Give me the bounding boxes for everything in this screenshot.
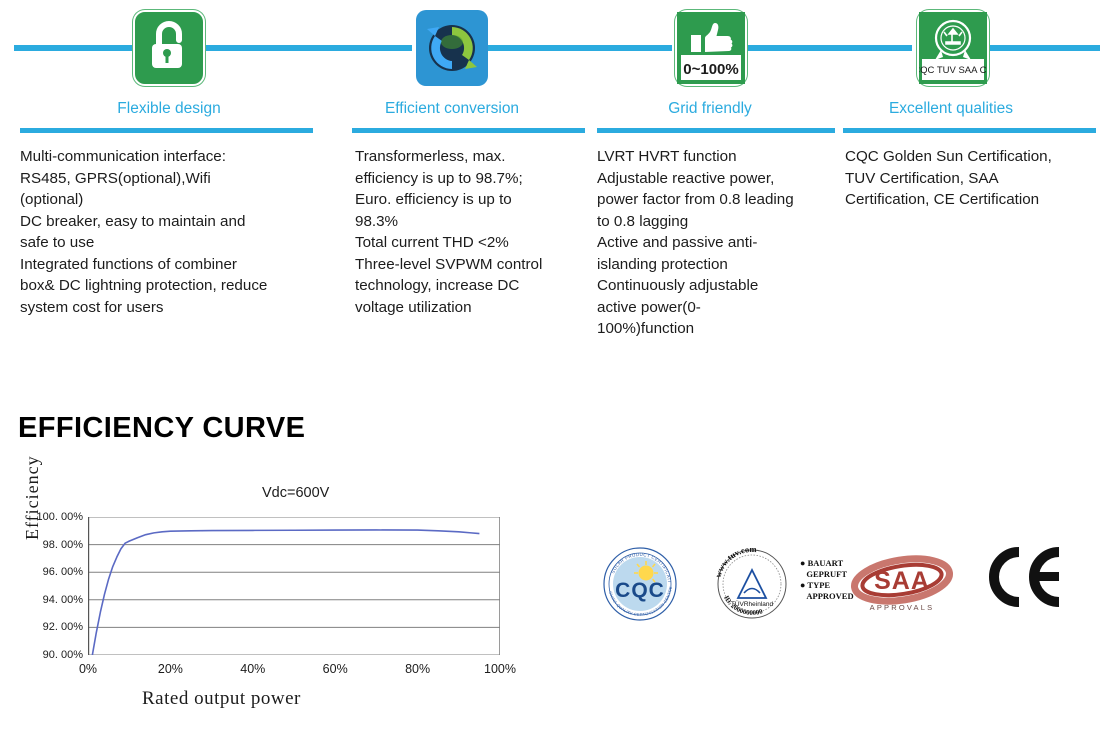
- chart-x-tick: 40%: [240, 662, 265, 676]
- connector-rule-2: [206, 45, 412, 51]
- connector-rule-1: [14, 45, 132, 51]
- thumbs-up-icon: 0~100%: [675, 10, 747, 86]
- chart-plot-area: 90. 00%92. 00%94. 00%96. 00%98. 00%100. …: [88, 517, 500, 655]
- connector-rule-5: [988, 45, 1100, 51]
- chart-x-tick: 60%: [323, 662, 348, 676]
- feature-label-1: Flexible design: [59, 100, 279, 118]
- efficiency-chart: Vdc=600V Efficiency Rated output power 9…: [30, 485, 530, 715]
- cqc-logo: CQC SOLAR PRODUCT CERTIFICATION CHINA QU…: [595, 544, 685, 629]
- feature-label-3: Grid friendly: [600, 100, 820, 118]
- chart-y-tick: 90. 00%: [43, 649, 83, 661]
- chart-x-tick: 80%: [405, 662, 430, 676]
- connector-rule-4: [748, 45, 912, 51]
- feature-underline-3: [597, 128, 835, 133]
- svg-text:CQC TUV SAA CE: CQC TUV SAA CE: [919, 65, 987, 76]
- chart-x-tick: 100%: [484, 662, 516, 676]
- feature-underline-1: [20, 128, 313, 133]
- svg-text:CQC: CQC: [615, 579, 665, 602]
- feature-underline-2: [352, 128, 585, 133]
- feature-body-4: CQC Golden Sun Certification, TUV Certif…: [845, 146, 1107, 211]
- svg-text:0~100%: 0~100%: [683, 61, 738, 78]
- chart-svg: [88, 517, 500, 655]
- chart-subtitle: Vdc=600V: [262, 485, 329, 501]
- feature-label-4: Excellent qualities: [841, 100, 1061, 118]
- chart-y-tick: 100. 00%: [37, 511, 83, 523]
- ce-logo: [985, 546, 1065, 613]
- certification-seal-icon: CQC TUV SAA CE: [917, 10, 989, 86]
- chart-x-tick: 20%: [158, 662, 183, 676]
- saa-logo: SAA APPROVALS: [850, 548, 955, 625]
- feature-strip: 0~100% CQC TUV SAA CE Flexible design Ef…: [0, 0, 1114, 136]
- chart-y-tick: 92. 00%: [43, 621, 83, 633]
- feature-body-2: Transformerless, max. efficiency is up t…: [355, 146, 600, 318]
- tuv-logo: TÜVRheinland www.tuv.com ID. 2000000000: [710, 542, 795, 631]
- feature-body-3: LVRT HVRT function Adjustable reactive p…: [597, 146, 847, 340]
- page-title: EFFICIENCY CURVE: [18, 412, 305, 445]
- conversion-arrows-icon: [416, 10, 488, 86]
- chart-x-axis-label: Rated output power: [142, 688, 301, 710]
- chart-x-tick: 0%: [79, 662, 97, 676]
- connector-rule-3: [488, 45, 672, 51]
- feature-underline-4: [843, 128, 1096, 133]
- feature-label-2: Efficient conversion: [342, 100, 562, 118]
- svg-text:SAA: SAA: [874, 567, 930, 595]
- tuv-bauart-text: ● BAUART GEPRUFT ● TYPE APPROVED: [800, 558, 854, 602]
- chart-y-tick: 96. 00%: [43, 566, 83, 578]
- certification-logos: CQC SOLAR PRODUCT CERTIFICATION CHINA QU…: [595, 540, 1065, 630]
- open-padlock-icon: [133, 10, 205, 86]
- chart-y-tick: 98. 00%: [43, 539, 83, 551]
- svg-text:APPROVALS: APPROVALS: [870, 603, 935, 612]
- chart-y-tick: 94. 00%: [43, 594, 83, 606]
- feature-body-1: Multi-communication interface: RS485, GP…: [20, 146, 340, 318]
